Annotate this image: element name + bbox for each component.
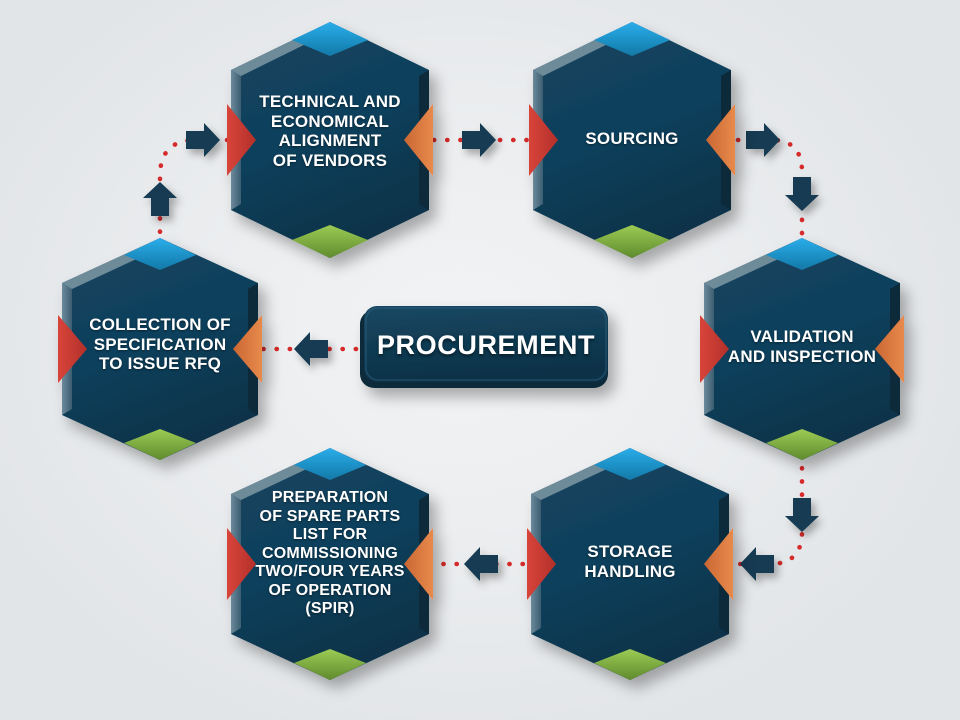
arrow-left-into-storage: [740, 547, 774, 581]
diagram-svg: [0, 0, 960, 720]
center-node[interactable]: [360, 306, 608, 388]
arrow-down-into-validation: [785, 177, 819, 211]
arrow-left-center-to-collection: [294, 332, 328, 366]
diagram-canvas: TECHNICAL AND ECONOMICAL ALIGNMENT OF VE…: [0, 0, 960, 720]
connector-sourcing-to-validation: [738, 140, 802, 248]
node-collection[interactable]: [58, 238, 262, 460]
arrow-up-collection-to-technical: [143, 182, 177, 216]
node-validation[interactable]: [700, 238, 904, 460]
node-preparation[interactable]: [227, 448, 433, 680]
arrow-right-technical-to-sourcing: [462, 123, 496, 157]
node-sourcing[interactable]: [529, 22, 735, 258]
center-node-body: [364, 306, 608, 382]
node-technical[interactable]: [227, 22, 433, 258]
connector-validation-to-storage: [736, 455, 802, 564]
arrow-down-validation-to-storage: [785, 498, 819, 532]
arrow-right-into-technical: [186, 123, 220, 157]
arrow-right-leaving-sourcing: [746, 123, 780, 157]
node-storage[interactable]: [527, 448, 733, 680]
arrow-left-storage-to-preparation: [464, 547, 498, 581]
